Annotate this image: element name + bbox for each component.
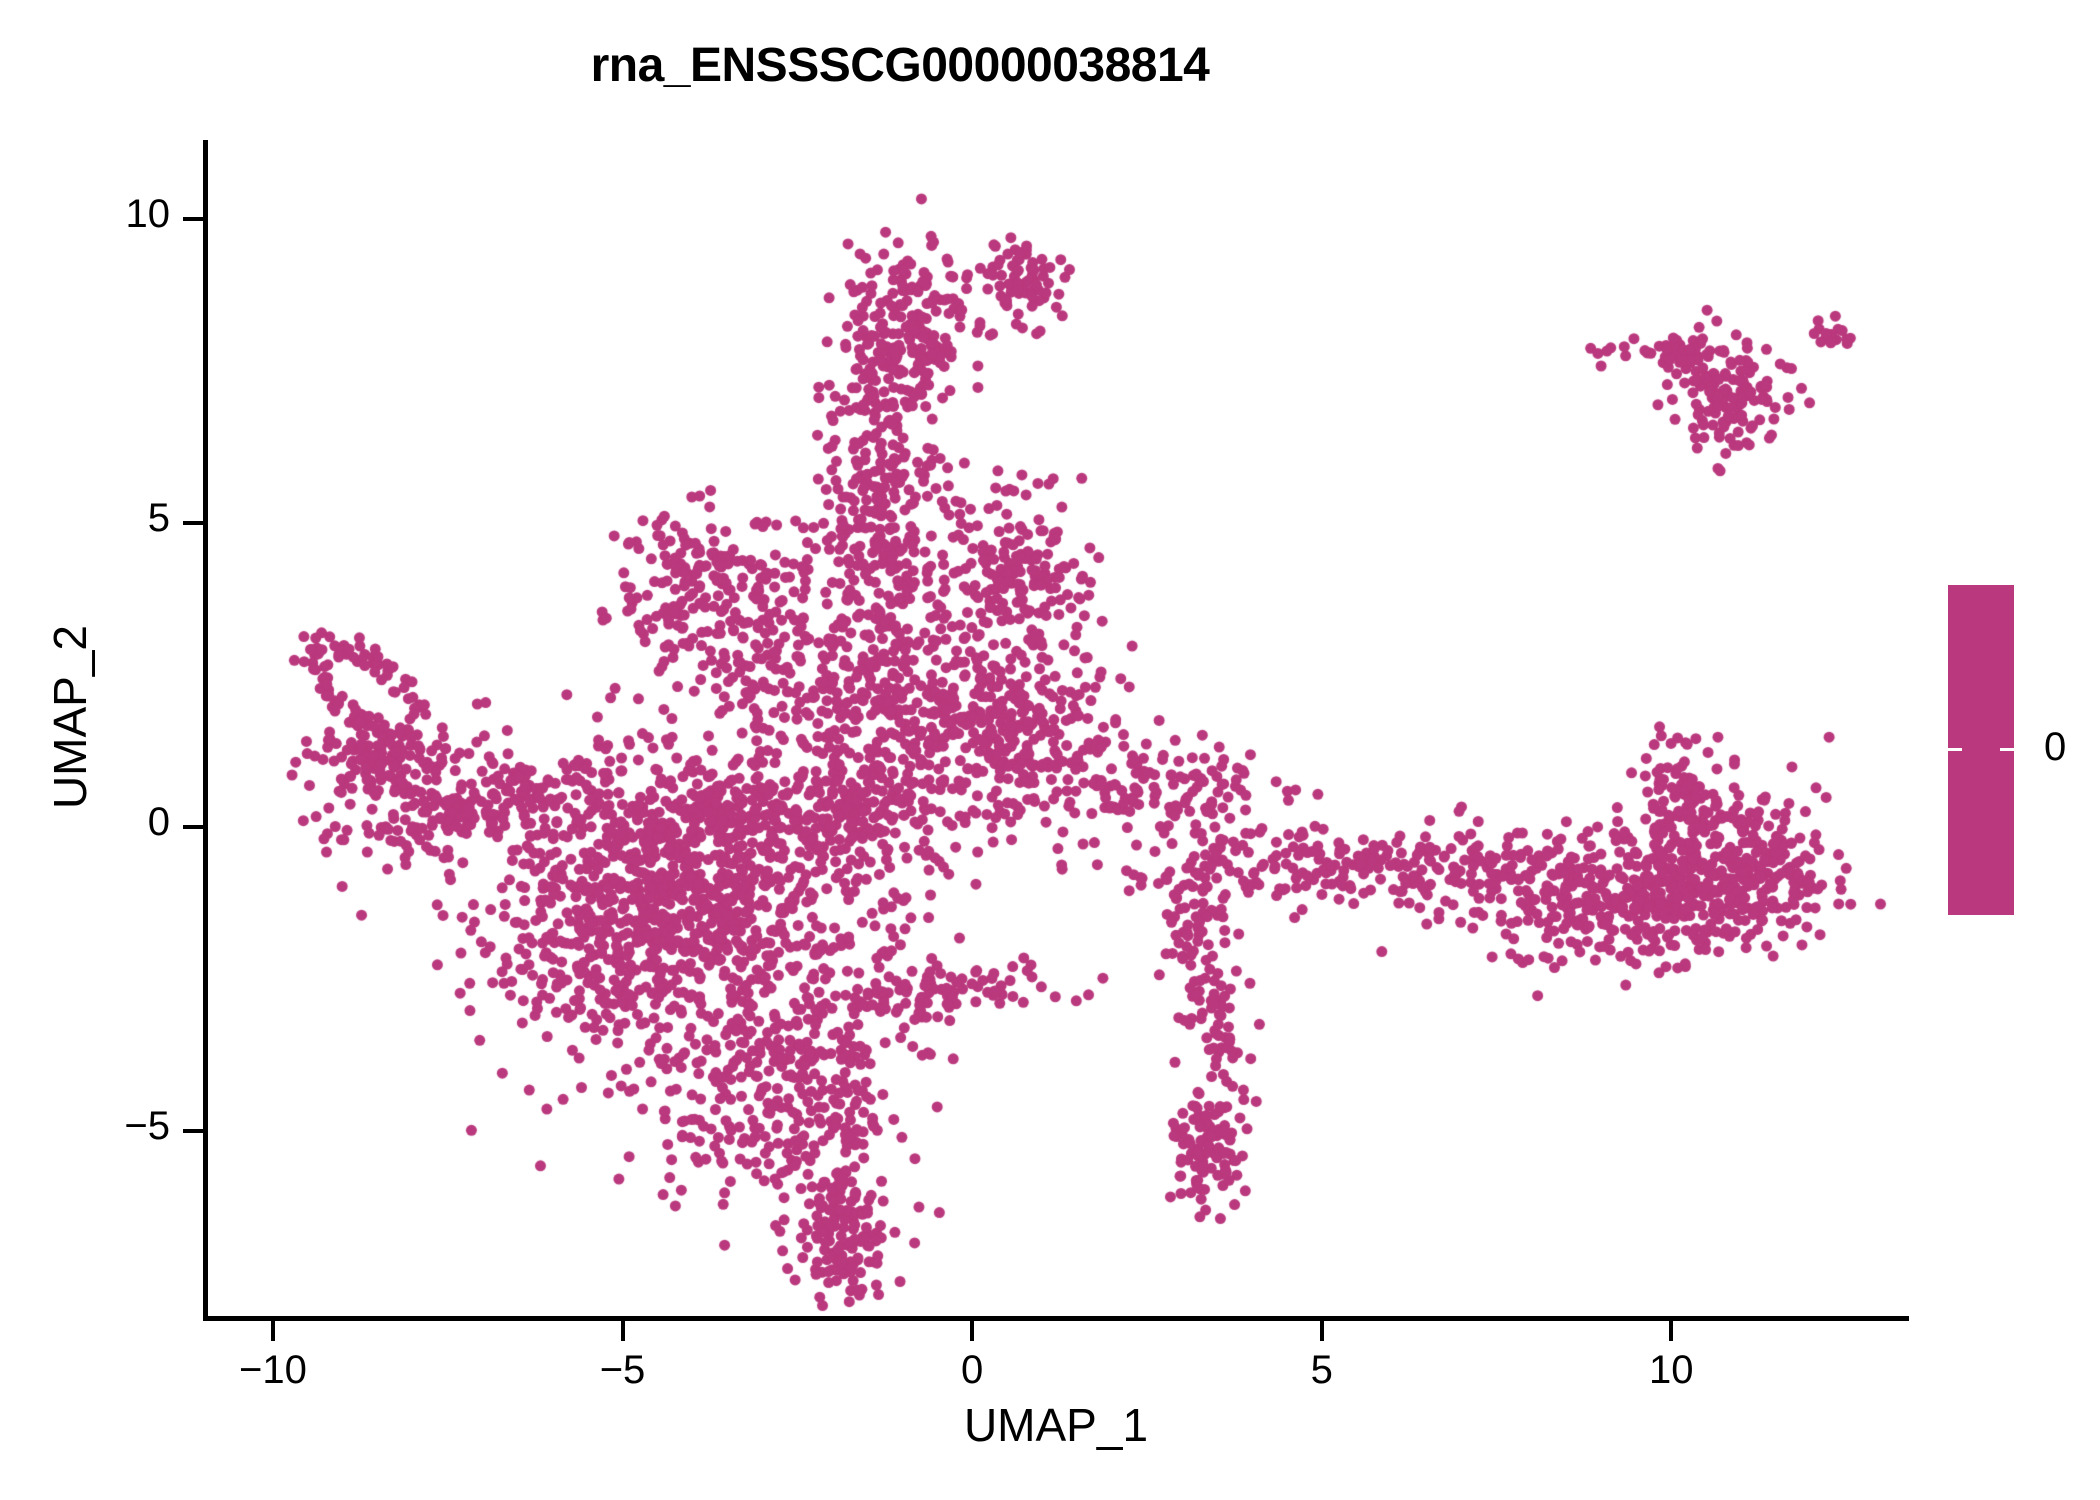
colorbar-tick-left bbox=[1948, 748, 1962, 751]
colorbar-tick-right bbox=[2000, 748, 2014, 751]
x-tick-mark bbox=[970, 1321, 974, 1341]
x-tick-mark bbox=[1320, 1321, 1324, 1341]
x-tick-label: −10 bbox=[173, 1348, 373, 1393]
x-tick-mark bbox=[621, 1321, 625, 1341]
y-tick-label: −5 bbox=[0, 1104, 170, 1149]
scatter-points-canvas bbox=[203, 140, 1909, 1320]
y-tick-mark bbox=[183, 521, 203, 525]
x-tick-label: 10 bbox=[1571, 1348, 1771, 1393]
x-tick-label: 5 bbox=[1222, 1348, 1422, 1393]
scatter-plot-area bbox=[203, 140, 1909, 1320]
y-tick-mark bbox=[183, 217, 203, 221]
x-tick-label: −5 bbox=[523, 1348, 723, 1393]
x-axis-title: UMAP_1 bbox=[203, 1398, 1909, 1452]
umap-feature-plot: rna_ENSSSCG00000038814 −50510 −10−50510 … bbox=[0, 0, 2100, 1500]
page-title: rna_ENSSSCG00000038814 bbox=[0, 38, 1800, 93]
y-tick-label: 10 bbox=[0, 192, 170, 237]
x-tick-mark bbox=[1669, 1321, 1673, 1341]
y-tick-mark bbox=[183, 1129, 203, 1133]
x-tick-label: 0 bbox=[872, 1348, 1072, 1393]
x-tick-mark bbox=[271, 1321, 275, 1341]
colorbar-tick-label: 0 bbox=[2044, 725, 2066, 770]
y-tick-mark bbox=[183, 825, 203, 829]
y-axis-title: UMAP_2 bbox=[43, 457, 97, 977]
